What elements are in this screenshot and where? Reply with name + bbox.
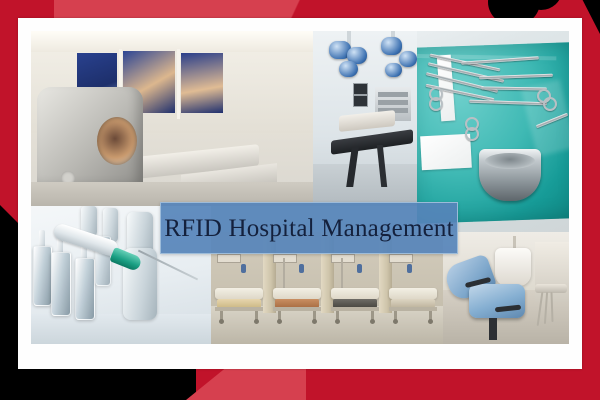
ward-monitor-dot-1 (241, 264, 246, 273)
gauze-pack-lower (420, 134, 472, 171)
bed-wheel-left (393, 319, 398, 324)
or-surgical-light-6 (385, 63, 402, 77)
photo-dental-chair (443, 232, 569, 344)
instrument-ring-2 (429, 97, 443, 111)
ampoule-3 (75, 258, 95, 320)
dental-chair-base-post (489, 318, 497, 340)
ward-headwall-unit-4 (389, 254, 413, 263)
photo-collage (31, 31, 569, 344)
ampoule-1 (33, 246, 52, 306)
ct-gantry-bore (97, 117, 137, 165)
ward-iv-pole-2 (341, 258, 343, 292)
bed-mattress (331, 288, 379, 299)
instrument-ring-4 (465, 127, 479, 141)
bowl-rim (485, 153, 535, 169)
photo-ct-scanner-room (31, 31, 313, 206)
stainless-steel-bowl (479, 149, 541, 201)
poster-canvas: RFID Hospital Management (0, 0, 600, 400)
or-surgical-light-5 (399, 51, 417, 67)
or-operating-bed (339, 110, 395, 132)
bed-wheel-right (370, 319, 375, 324)
ward-monitor-dot-4 (407, 264, 412, 273)
bed-wheel-left (219, 319, 224, 324)
ct-wall-mural-right (181, 53, 223, 113)
bed-wheel-left (277, 319, 282, 324)
instrument-ring-6 (543, 97, 557, 111)
or-monitor-1 (353, 83, 368, 95)
ward-monitor-dot-2 (299, 264, 304, 273)
bed-wheel-right (254, 319, 259, 324)
or-monitor-2 (353, 95, 368, 107)
ward-headwall-unit-3 (331, 254, 355, 263)
title-banner: RFID Hospital Management (160, 202, 458, 254)
bed-wheel-right (312, 319, 317, 324)
bed-wheel-left (335, 319, 340, 324)
ct-wall-seam-right (177, 49, 180, 119)
bed-wheel-right (428, 319, 433, 324)
ct-ceiling (31, 31, 313, 52)
page-title: RFID Hospital Management (164, 216, 453, 241)
photo-operating-theatre (313, 31, 417, 206)
bed-mattress (389, 288, 437, 299)
or-table-top (331, 129, 413, 155)
dental-chair-seat (469, 284, 525, 318)
ward-headwall-unit-2 (273, 254, 297, 263)
ward-iv-pole-1 (283, 258, 285, 292)
amp-table-surface (31, 314, 211, 344)
or-surgical-light-3 (339, 61, 358, 77)
bed-mattress (215, 288, 263, 299)
ampoule-2 (51, 252, 71, 316)
dental-spittoon (495, 248, 531, 286)
or-floor (313, 164, 417, 206)
ward-monitor-dot-3 (357, 264, 362, 273)
ward-headwall-unit-1 (217, 254, 241, 263)
bed-mattress (273, 288, 321, 299)
or-surgical-light-4 (381, 37, 402, 55)
